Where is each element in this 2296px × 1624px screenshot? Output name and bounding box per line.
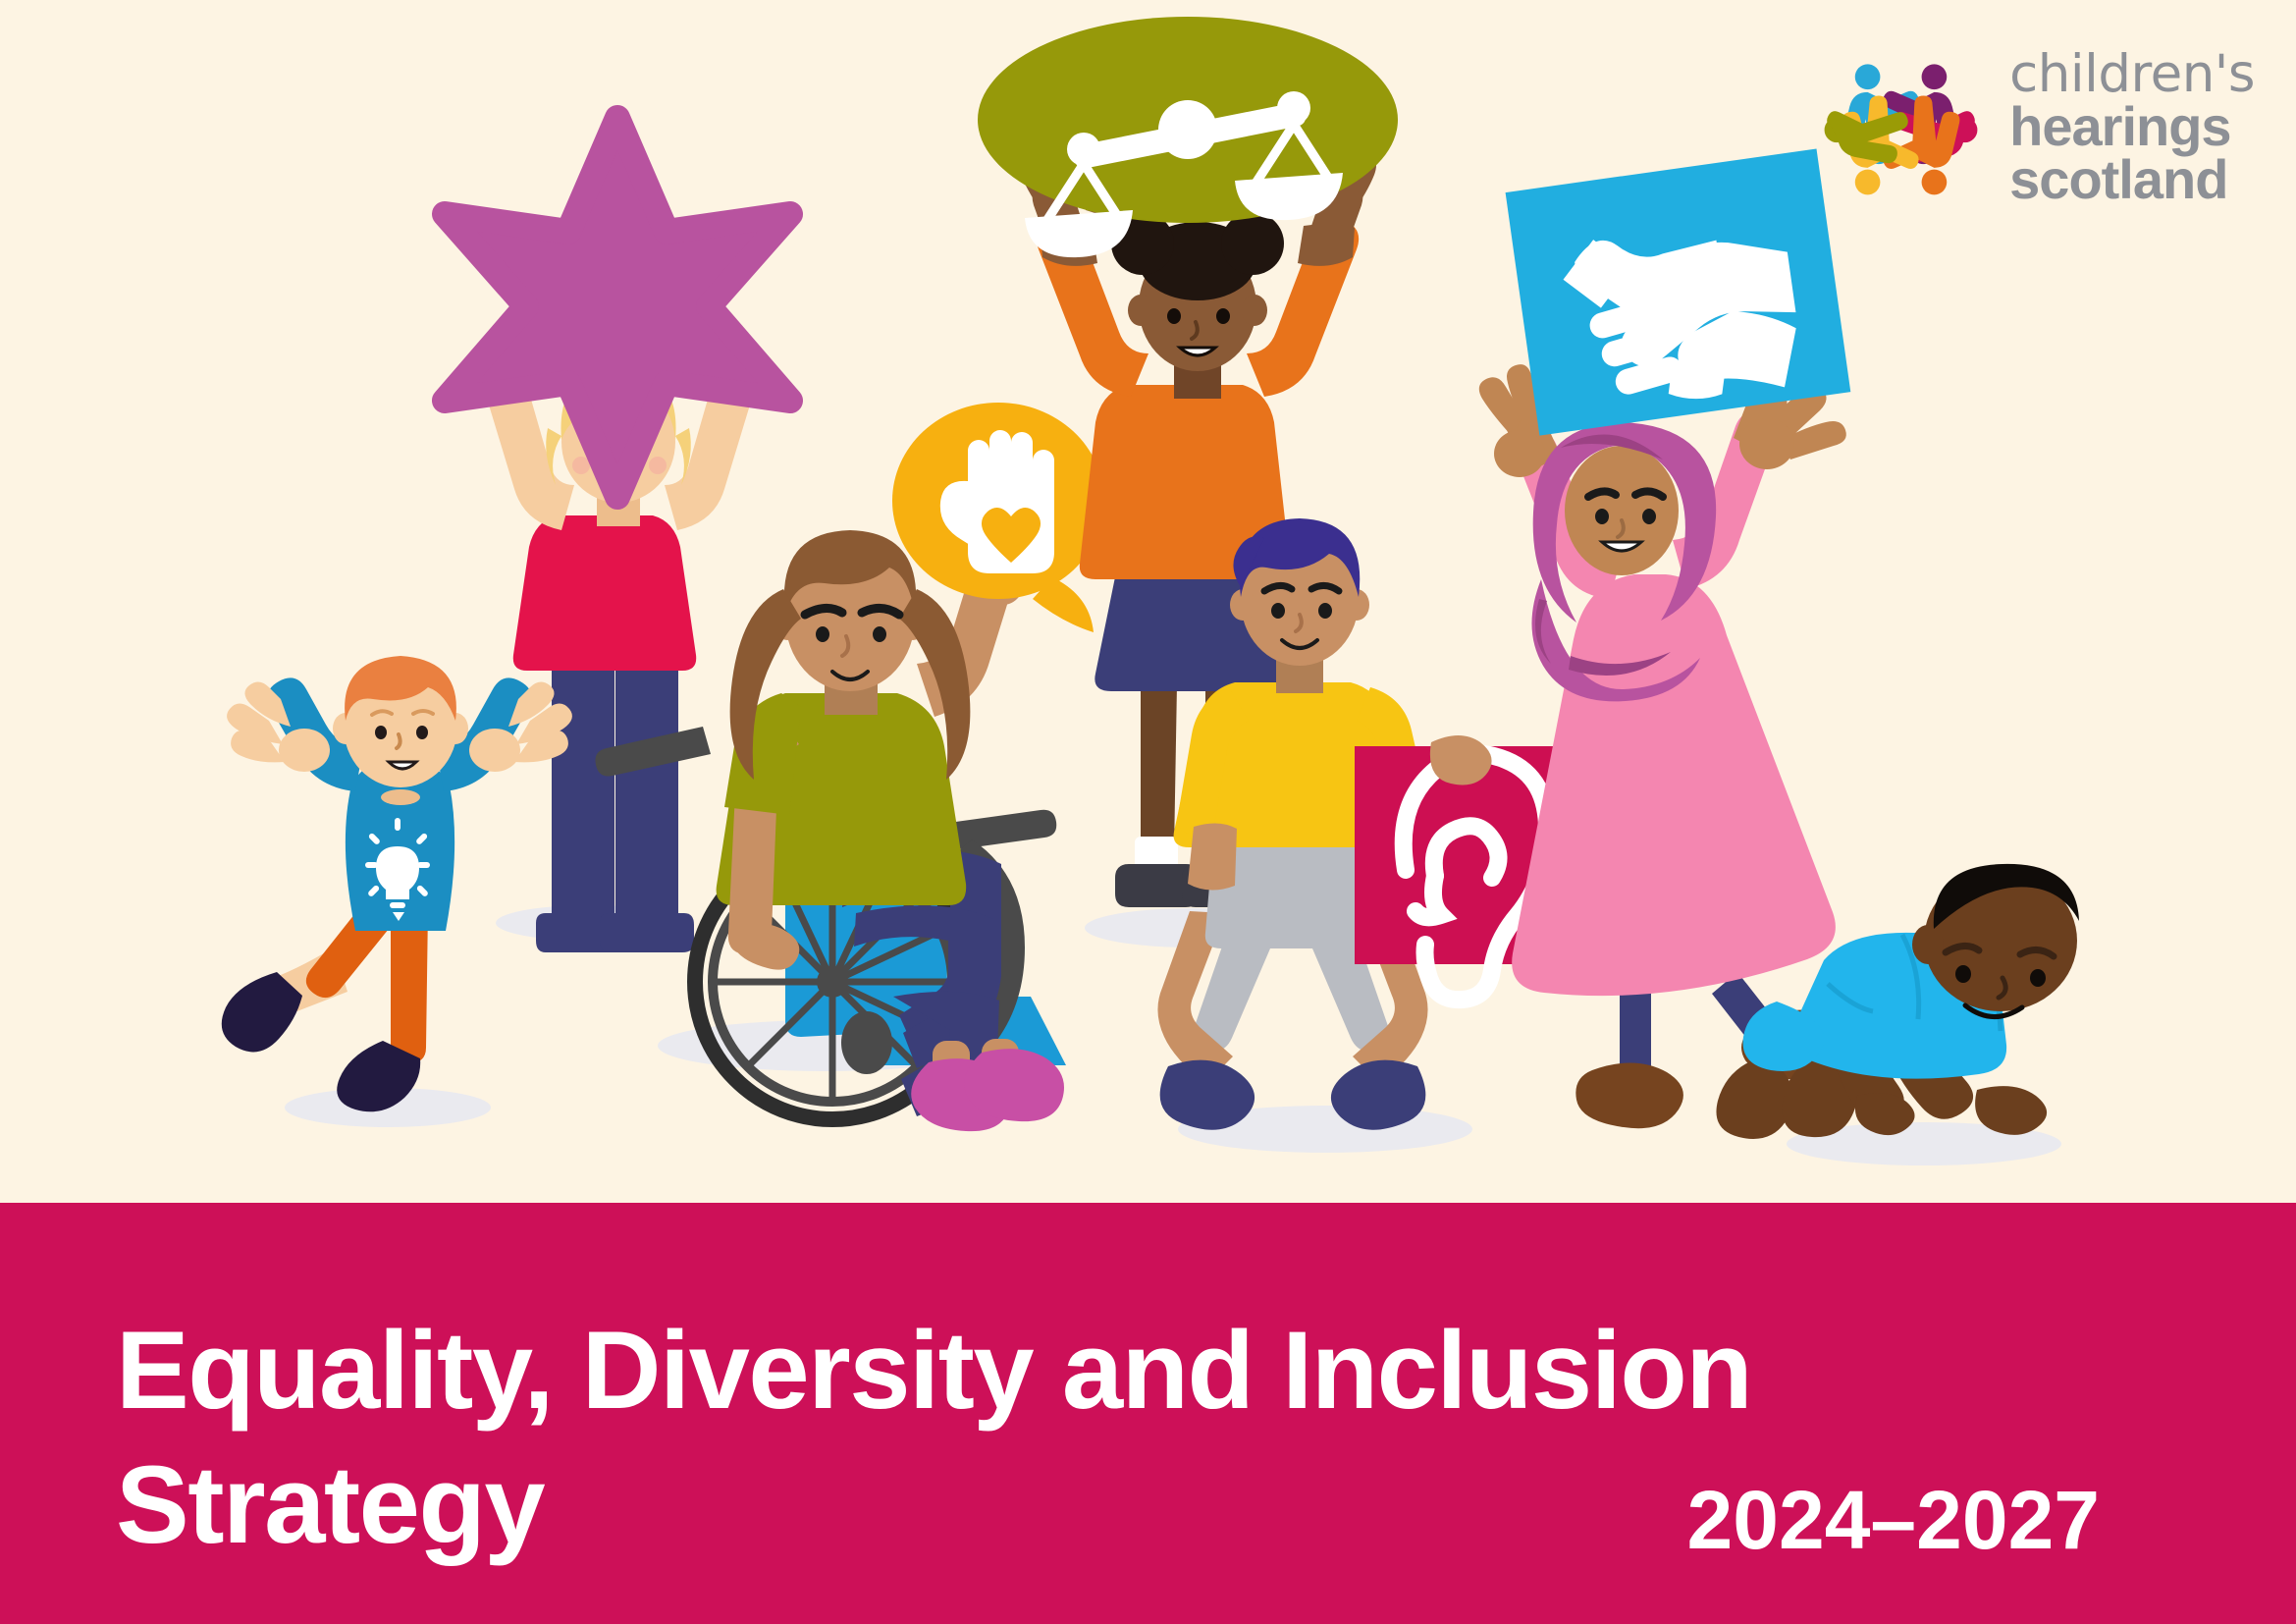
page-subtitle: Strategy [116, 1438, 544, 1573]
logo-text-hearings: hearings [2009, 100, 2255, 153]
page-title: Equality, Diversity and Inclusion [116, 1304, 2208, 1438]
title-banner: Equality, Diversity and Inclusion Strate… [0, 1203, 2296, 1624]
document-cover: children's hearings scotland Equality, D… [0, 0, 2296, 1624]
logo-text-scotland: scotland [2009, 153, 2255, 206]
logo-text-childrens: children's [2009, 50, 2255, 100]
strategy-years: 2024–2027 [1687, 1473, 2208, 1568]
logo-ring-of-figures-icon [1810, 47, 1992, 209]
organisation-logo: children's hearings scotland [1810, 47, 2255, 209]
handshake-icon[interactable] [1506, 149, 1851, 436]
figure-toddler-dancing [222, 656, 572, 1111]
subtitle-row: Strategy 2024–2027 [116, 1438, 2208, 1573]
